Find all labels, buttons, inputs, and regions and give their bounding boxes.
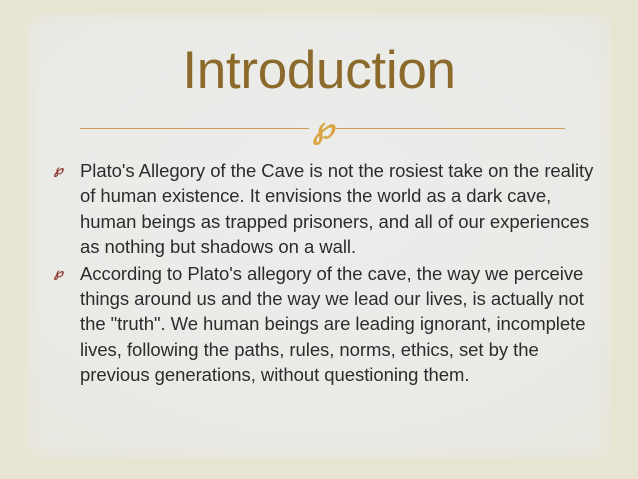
cr-flourish-bullet-icon: ℘: [50, 158, 80, 183]
list-item: ℘ According to Plato's allegory of the c…: [50, 261, 600, 388]
cb-flourish-ornament-icon: ℘: [313, 114, 332, 144]
divider-line-right: [336, 128, 565, 129]
list-item: ℘ Plato's Allegory of the Cave is not th…: [50, 158, 600, 260]
title-divider: ℘: [80, 112, 565, 144]
slide-body: ℘ Plato's Allegory of the Cave is not th…: [50, 158, 600, 389]
presentation-slide: Introduction ℘ ℘ Plato's Allegory of the…: [0, 0, 638, 479]
bullet-text: According to Plato's allegory of the cav…: [80, 261, 600, 388]
divider-line-left: [80, 128, 309, 129]
slide-title: Introduction: [0, 42, 638, 100]
bullet-text: Plato's Allegory of the Cave is not the …: [80, 158, 600, 260]
cr-flourish-bullet-icon: ℘: [50, 261, 80, 286]
